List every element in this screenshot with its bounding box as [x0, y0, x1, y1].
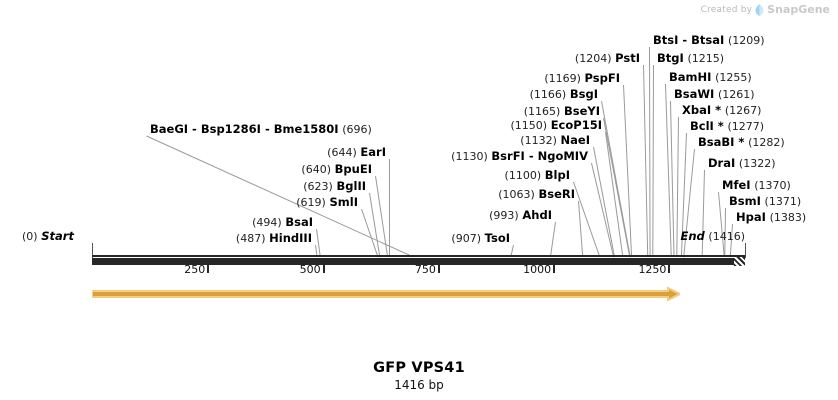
leader-line	[573, 182, 600, 257]
enzyme-position: (696)	[342, 123, 372, 136]
terminus-tick-end	[745, 243, 746, 258]
enzyme-label-bsawi[interactable]: BsaWI (1261)	[674, 88, 755, 101]
enzyme-position: (1255)	[715, 71, 752, 84]
enzyme-name: BsmI	[729, 194, 761, 208]
sequence-length-label: 1416 bp	[0, 378, 838, 392]
enzyme-name: PstI	[615, 51, 640, 65]
enzyme-label-btgi[interactable]: BtgI (1215)	[657, 52, 724, 65]
leader-line	[389, 159, 390, 257]
enzyme-label-smli[interactable]: (619) SmlI	[296, 196, 358, 209]
enzyme-position: (494)	[252, 216, 282, 229]
snapgene-linear-map: Created by SnapGene BaeGI - Bsp1286I - B…	[0, 0, 838, 400]
ruler-tick	[668, 265, 670, 273]
enzyme-position: (487)	[236, 232, 266, 245]
enzyme-name: BseYI	[564, 104, 600, 118]
enzyme-label-bseyi[interactable]: (1165) BseYI	[524, 105, 600, 118]
enzyme-name: BsrFI	[491, 149, 524, 163]
enzyme-name: BamHI	[669, 70, 711, 84]
credit-prefix: Created by	[701, 5, 753, 15]
enzyme-position: (1169)	[544, 72, 581, 85]
enzyme-position: (1150)	[510, 119, 547, 132]
enzyme-label-hindiii[interactable]: (487) HindIII	[236, 232, 312, 245]
leader-line	[649, 47, 651, 257]
enzyme-name: EarI	[360, 145, 386, 159]
enzyme-name: Bme1580I	[274, 122, 339, 136]
ruler-label: 1000	[523, 263, 551, 276]
enzyme-label-naei[interactable]: (1132) NaeI	[520, 134, 590, 147]
enzyme-name: SmlI	[330, 195, 359, 209]
enzyme-name: BseRI	[538, 187, 575, 201]
enzyme-label-bsai[interactable]: (494) BsaI	[252, 216, 313, 229]
enzyme-label-eari[interactable]: (644) EarI	[327, 146, 386, 159]
enzyme-name: BtsaI	[691, 33, 724, 47]
enzyme-label-bsabi[interactable]: BsaBI * (1282)	[698, 136, 785, 149]
orf-arrow[interactable]	[92, 287, 680, 301]
enzyme-name: AhdI	[522, 208, 552, 222]
enzyme-name: BsgI	[570, 87, 598, 101]
enzyme-position: (1204)	[575, 52, 612, 65]
enzyme-label-psti[interactable]: (1204) PstI	[575, 52, 640, 65]
enzyme-position: (993)	[489, 209, 519, 222]
enzyme-label-pspfi[interactable]: (1169) PspFI	[544, 72, 620, 85]
ruler-label: 750	[415, 263, 436, 276]
end-label: End (1416)	[680, 230, 745, 243]
map-footer: GFP VPS41 1416 bp	[0, 360, 838, 392]
enzyme-name: BpuEI	[335, 162, 372, 176]
enzyme-label-drai[interactable]: DraI (1322)	[708, 157, 776, 170]
enzyme-name: BsaBI *	[698, 135, 744, 149]
ruler-tick	[438, 265, 440, 273]
enzyme-position: (1165)	[524, 105, 561, 118]
enzyme-position: (1166)	[530, 88, 567, 101]
enzyme-position: (619)	[296, 196, 326, 209]
enzyme-name: BtgI	[657, 51, 684, 65]
sequence-line-top-rule	[92, 255, 745, 257]
enzyme-name: BlpI	[545, 168, 570, 182]
enzyme-name: EcoP15I	[551, 118, 602, 132]
enzyme-label-btsi[interactable]: BtsI - BtsaI (1209)	[653, 34, 765, 47]
enzyme-name: MfeI	[722, 178, 751, 192]
enzyme-position: (623)	[303, 180, 333, 193]
enzyme-position: (1130)	[451, 150, 488, 163]
end-position: (1416)	[708, 230, 745, 243]
enzyme-label-bsmi[interactable]: BsmI (1371)	[729, 195, 801, 208]
enzyme-position: (640)	[301, 163, 331, 176]
start-text: Start	[41, 229, 74, 243]
leader-line	[676, 117, 679, 257]
enzyme-name: BsaWI	[674, 87, 714, 101]
enzyme-name: Bsp1286I	[201, 122, 261, 136]
enzyme-position: (1063)	[498, 188, 535, 201]
enzyme-position: (1132)	[520, 134, 557, 147]
page-title: GFP VPS41	[0, 360, 838, 376]
ruler-label: 1250	[638, 263, 666, 276]
enzyme-label-bseri[interactable]: (1063) BseRI	[498, 188, 575, 201]
enzyme-label-ecop15i[interactable]: (1150) EcoP15I	[510, 119, 602, 132]
enzyme-label-hpai[interactable]: HpaI (1383)	[736, 211, 806, 224]
enzyme-name: BglII	[337, 179, 367, 193]
start-position: (0)	[22, 230, 38, 243]
enzyme-name: NgoMIV	[538, 149, 588, 163]
enzyme-position: (1282)	[748, 136, 785, 149]
snapgene-credit: Created by SnapGene	[701, 3, 830, 16]
enzyme-position: (1322)	[739, 157, 776, 170]
ruler-tick	[207, 265, 209, 273]
snapgene-leaf-icon	[755, 4, 764, 16]
enzyme-label-baegi[interactable]: BaeGI - Bsp1286I - Bme1580I (696)	[150, 123, 372, 136]
end-text: End	[680, 229, 704, 243]
leader-line	[702, 170, 705, 257]
enzyme-position: (644)	[327, 146, 357, 159]
enzyme-position: (1370)	[754, 179, 791, 192]
enzyme-label-xbai[interactable]: XbaI * (1267)	[682, 104, 761, 117]
leader-line	[550, 222, 556, 257]
enzyme-label-ahdi[interactable]: (993) AhdI	[489, 209, 552, 222]
enzyme-name: TsoI	[485, 231, 510, 245]
enzyme-position: (1209)	[728, 34, 765, 47]
enzyme-name: BsaI	[285, 215, 313, 229]
enzyme-name: PspFI	[585, 71, 620, 85]
ruler-tick	[323, 265, 325, 273]
enzyme-label-bsgi[interactable]: (1166) BsgI	[530, 88, 598, 101]
enzyme-name: XbaI *	[682, 103, 721, 117]
enzyme-position: (1371)	[765, 195, 802, 208]
leader-line	[601, 101, 631, 257]
enzyme-position: (1100)	[505, 169, 542, 182]
enzyme-name: BclI *	[690, 119, 724, 133]
enzyme-name: NaeI	[561, 133, 590, 147]
ruler-label: 250	[184, 263, 205, 276]
ruler-tick	[553, 265, 555, 273]
start-label: (0) Start	[22, 230, 74, 243]
enzyme-label-blpi[interactable]: (1100) BlpI	[505, 169, 570, 182]
enzyme-label-bcli[interactable]: BclI * (1277)	[690, 120, 764, 133]
leader-line	[643, 65, 648, 257]
ruler-label: 500	[300, 263, 321, 276]
sequence-end-cap	[734, 257, 745, 266]
enzyme-label-bsrfi[interactable]: (1130) BsrFI - NgoMIV	[451, 150, 588, 163]
enzyme-position: (1277)	[727, 120, 764, 133]
enzyme-name: HpaI	[736, 210, 766, 224]
enzyme-name: DraI	[708, 156, 735, 170]
enzyme-name: BtsI	[653, 33, 678, 47]
enzyme-position: (907)	[451, 232, 481, 245]
enzyme-label-bpuei[interactable]: (640) BpuEI	[301, 163, 372, 176]
leader-line	[652, 65, 654, 257]
enzyme-label-mfei[interactable]: MfeI (1370)	[722, 179, 791, 192]
enzyme-name: BaeGI	[150, 122, 188, 136]
enzyme-position: (1383)	[770, 211, 807, 224]
credit-brand: SnapGene	[767, 3, 830, 16]
enzyme-label-bamhi[interactable]: BamHI (1255)	[669, 71, 752, 84]
enzyme-name: HindIII	[269, 231, 312, 245]
enzyme-position: (1267)	[725, 104, 762, 117]
enzyme-label-bglii[interactable]: (623) BglII	[303, 180, 366, 193]
enzyme-label-tsoi[interactable]: (907) TsoI	[451, 232, 510, 245]
enzyme-position: (1215)	[687, 52, 724, 65]
enzyme-position: (1261)	[718, 88, 755, 101]
